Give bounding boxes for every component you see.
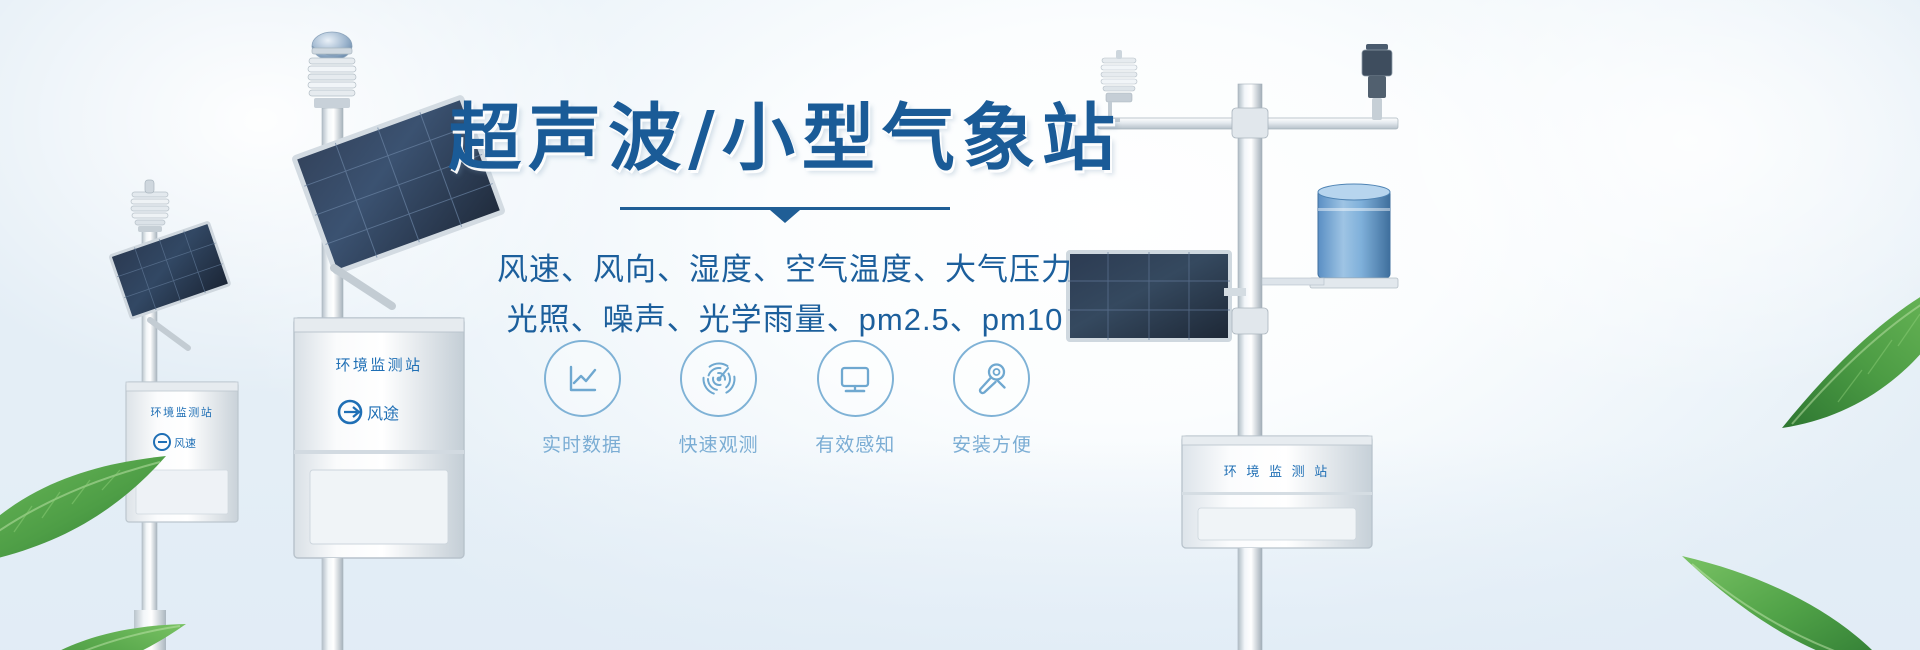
weather-station-left-small: 环境监测站 风速 [104,170,274,650]
svg-text:风途: 风途 [367,405,399,423]
enclosure-box-right: 环 境 监 测 站 [1182,436,1372,548]
subtitle-line-2: 光照、噪声、光学雨量、pm2.5、pm10 [440,295,1130,345]
enclosure-box: 环境监测站 风速 [126,382,238,522]
page-title: 超声波/小型气象站 [440,96,1130,181]
wrench-icon [972,359,1012,399]
feature-label: 实时数据 [527,430,637,457]
divider-triangle-icon [770,210,800,223]
monitor-screen-icon [835,359,875,399]
solar-panel [110,222,230,318]
feature-item-realtime-data[interactable]: 实时数据 [527,340,637,457]
feature-label: 快速观测 [664,430,774,457]
station-left-small-illustration: 环境监测站 风速 [104,170,274,650]
radiation-shield-sensor [131,180,169,232]
subtitle-block: 风速、风向、湿度、空气温度、大气压力 光照、噪声、光学雨量、pm2.5、pm10 [440,245,1130,345]
feature-icon-circle [953,340,1030,417]
feature-list: 实时数据 快速观测 [527,340,1047,457]
rain-gauge [1310,184,1398,288]
feature-item-effective-sensing[interactable]: 有效感知 [800,340,910,457]
feature-icon-circle [544,340,621,417]
enclosure-label-left-large: 环境监测站 [335,356,422,374]
svg-text:风速: 风速 [174,437,196,450]
radiation-shield-stack [308,58,356,108]
feature-item-quick-observation[interactable]: 快速观测 [664,340,774,457]
product-banner: 环境监测站 风速 [0,0,1920,650]
feature-icon-circle [817,340,894,417]
feature-item-easy-installation[interactable]: 安装方便 [937,340,1047,457]
enclosure-label-right: 环 境 监 测 站 [1224,464,1330,479]
enclosure-box-large: 环境监测站 风途 [294,318,464,558]
enclosure-label-left-small: 环境监测站 [151,405,214,419]
leaf-decoration-right-upper [1730,250,1920,460]
dome-sensor [312,32,352,60]
feature-icon-circle [680,340,757,417]
line-chart-icon [562,359,602,399]
feature-label: 安装方便 [937,430,1047,457]
banner-text-block: 超声波/小型气象站 风速、风向、湿度、空气温度、大气压力 光照、噪声、光学雨量、… [440,96,1130,345]
radar-signal-icon [699,359,739,399]
title-divider [620,207,950,223]
feature-label: 有效感知 [800,430,910,457]
subtitle-line-1: 风速、风向、湿度、空气温度、大气压力 [497,252,1073,287]
ultrasonic-wind-sensor [1362,44,1392,120]
leaf-decoration-right-lower [1630,480,1880,650]
